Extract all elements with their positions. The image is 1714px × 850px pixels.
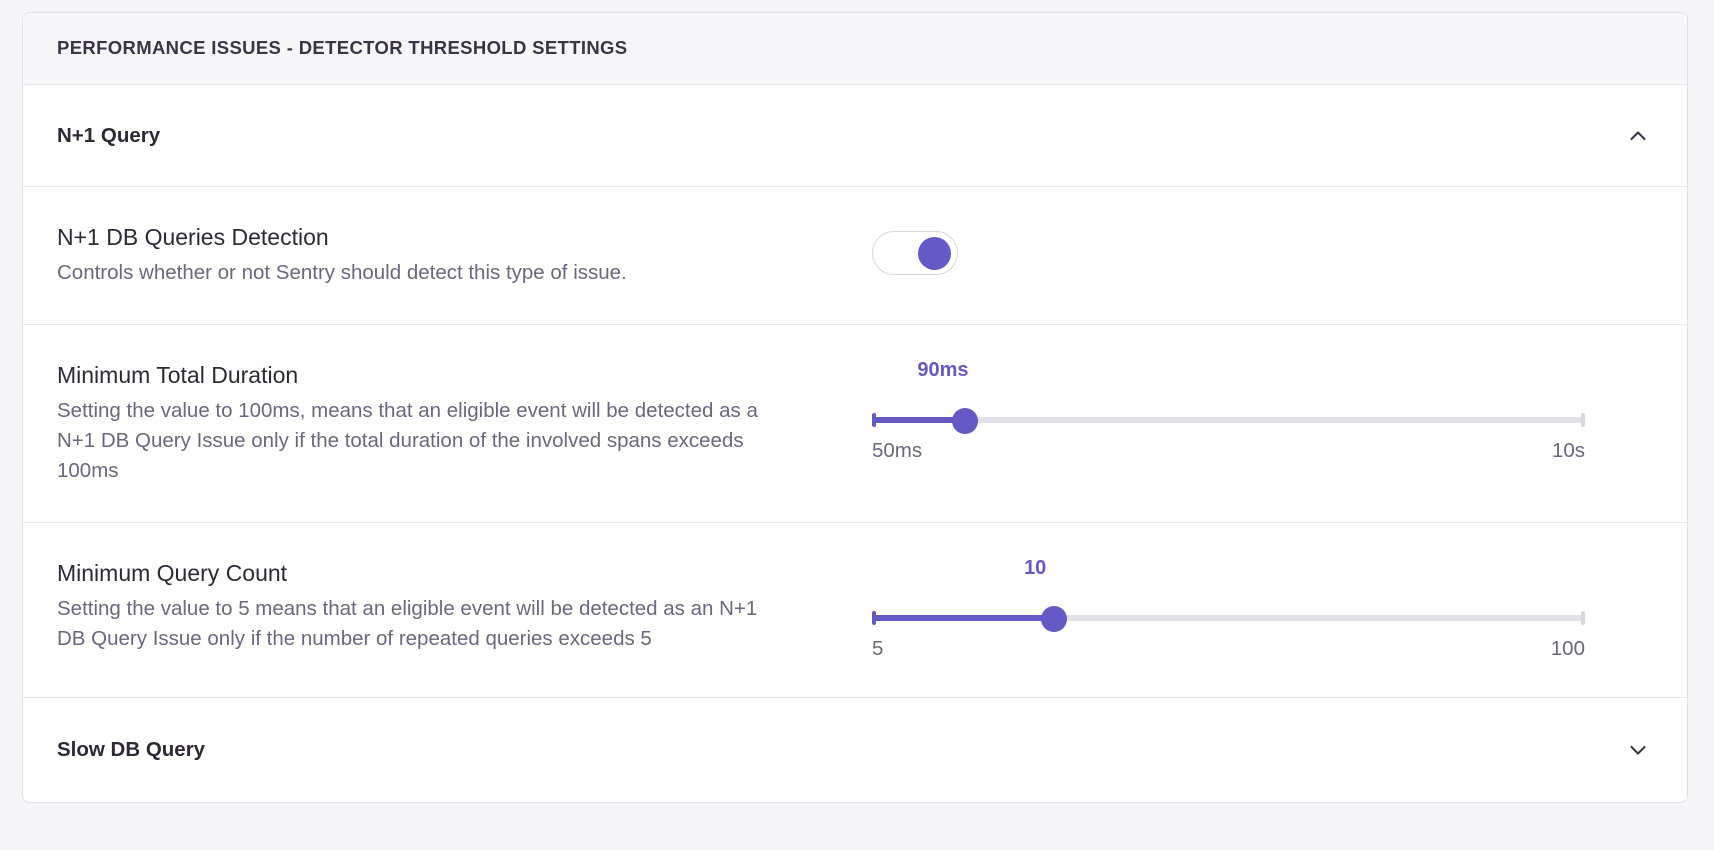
setting-text-block: Minimum Total Duration Setting the value… <box>57 359 847 486</box>
setting-description: Setting the value to 100ms, means that a… <box>57 396 787 486</box>
slider-max-label: 10s <box>1552 439 1585 463</box>
slider-value-label: 90ms <box>917 359 968 382</box>
slider-min-label: 5 <box>872 637 883 661</box>
setting-title: Minimum Total Duration <box>57 361 847 389</box>
setting-control-block <box>847 221 1653 275</box>
toggle-wrapper <box>847 221 958 275</box>
slider-max-label: 100 <box>1551 637 1585 661</box>
section-header-n-plus-1-query[interactable]: N+1 Query <box>23 85 1687 187</box>
setting-row-minimum-query-count: Minimum Query Count Setting the value to… <box>23 523 1687 698</box>
minimum-total-duration-slider: 90ms 50ms 10s <box>847 359 1585 463</box>
slider-cap-left <box>872 413 876 427</box>
section-header-slow-db-query[interactable]: Slow DB Query <box>23 698 1687 802</box>
slider-rail <box>872 417 1585 423</box>
slider-thumb[interactable] <box>1041 606 1067 632</box>
detector-threshold-settings-panel: PERFORMANCE ISSUES - DETECTOR THRESHOLD … <box>22 12 1688 803</box>
slider-track[interactable] <box>872 607 1585 629</box>
slider-cap-right <box>1581 413 1585 427</box>
setting-title: N+1 DB Queries Detection <box>57 223 847 251</box>
slider-bounds: 50ms 10s <box>872 439 1585 463</box>
chevron-up-icon[interactable] <box>1623 121 1653 151</box>
setting-text-block: Minimum Query Count Setting the value to… <box>57 557 847 654</box>
page-title: PERFORMANCE ISSUES - DETECTOR THRESHOLD … <box>57 38 1653 58</box>
setting-description: Setting the value to 5 means that an eli… <box>57 594 787 654</box>
setting-row-minimum-total-duration: Minimum Total Duration Setting the value… <box>23 325 1687 523</box>
slider-min-label: 50ms <box>872 439 922 463</box>
toggle-knob <box>918 237 951 270</box>
setting-description: Controls whether or not Sentry should de… <box>57 258 787 288</box>
setting-title: Minimum Query Count <box>57 559 847 587</box>
minimum-query-count-slider: 10 5 100 <box>847 557 1585 661</box>
panel-header: PERFORMANCE ISSUES - DETECTOR THRESHOLD … <box>23 13 1687 85</box>
section-title: Slow DB Query <box>57 738 205 763</box>
slider-fill <box>872 615 1054 621</box>
slider-bounds: 5 100 <box>872 637 1585 661</box>
setting-row-detection-toggle: N+1 DB Queries Detection Controls whethe… <box>23 187 1687 325</box>
setting-control-block: 90ms 50ms 10s <box>847 359 1653 463</box>
chevron-down-icon[interactable] <box>1623 735 1653 765</box>
slider-cap-left <box>872 611 876 625</box>
section-title: N+1 Query <box>57 124 160 149</box>
slider-value-label: 10 <box>1024 557 1046 580</box>
slider-cap-right <box>1581 611 1585 625</box>
setting-text-block: N+1 DB Queries Detection Controls whethe… <box>57 221 847 288</box>
slider-thumb[interactable] <box>952 408 978 434</box>
setting-control-block: 10 5 100 <box>847 557 1653 661</box>
n-plus-1-detection-toggle[interactable] <box>872 231 958 275</box>
slider-track[interactable] <box>872 409 1585 431</box>
